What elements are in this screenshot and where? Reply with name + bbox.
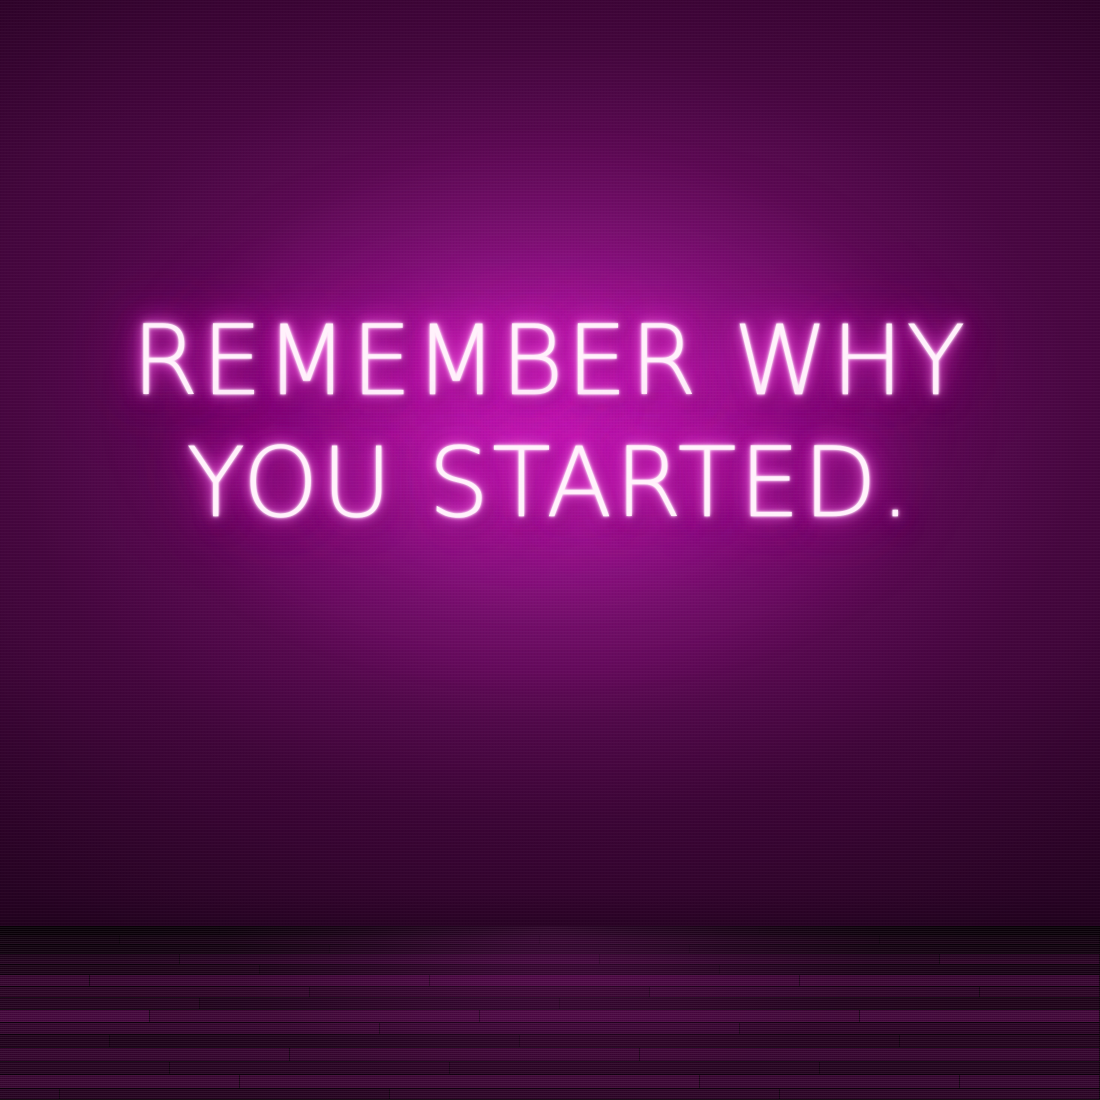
floor-plank [380, 1023, 740, 1034]
floor-plank [560, 998, 1100, 1009]
floor-plank [450, 1062, 820, 1074]
floor-plank [820, 1062, 1100, 1074]
floor-plank-row [0, 1062, 1100, 1075]
floor-plank [640, 1048, 1100, 1061]
floor-plank [260, 965, 720, 974]
neon-line-2: YOU STARTED. [0, 422, 1100, 544]
floor-plank [170, 1062, 450, 1074]
floor-plank [480, 1010, 860, 1022]
floor-plank [0, 1010, 150, 1022]
wood-floor [0, 926, 1100, 1100]
floor-plank [0, 998, 200, 1009]
floor-plank [0, 1075, 240, 1088]
floor-plank [0, 1062, 170, 1074]
floor-plank [720, 965, 1100, 974]
floor-plank [290, 1048, 640, 1061]
floor-plank [0, 1035, 110, 1047]
floor-plank-row [0, 1023, 1100, 1035]
floor-plank [0, 965, 260, 974]
floor-plank-row [0, 975, 1100, 987]
floor-plank [90, 975, 430, 986]
floor-plank [0, 1023, 380, 1034]
floor-plank [150, 1010, 480, 1022]
floor-plank [0, 975, 90, 986]
floor-plank-row [0, 1035, 1100, 1048]
floor-plank [780, 1089, 1100, 1099]
floor-plank-row [0, 1075, 1100, 1089]
floor-plank [520, 1035, 900, 1047]
floor-plank [430, 975, 800, 986]
floor-plank [390, 1089, 780, 1099]
neon-line-1: REMEMBER WHY [0, 300, 1100, 422]
neon-sign-text: REMEMBER WHY YOU STARTED. [0, 300, 1100, 544]
floor-plank [700, 1075, 960, 1088]
floor-plank-row [0, 965, 1100, 975]
floor-plank [900, 1035, 1100, 1047]
floor-plank [0, 1089, 60, 1099]
neon-sign-scene: REMEMBER WHY YOU STARTED. [0, 0, 1100, 1100]
floor-plank [110, 1035, 520, 1047]
floor-plank [60, 1089, 390, 1099]
floor-plank [960, 1075, 1100, 1088]
floor-plank-row [0, 1048, 1100, 1062]
floor-plank [200, 998, 560, 1009]
wall-floor-junction-shadow [0, 926, 1100, 966]
floor-plank [240, 1075, 700, 1088]
floor-plank [860, 1010, 1100, 1022]
floor-plank [740, 1023, 1100, 1034]
floor-plank-row [0, 1089, 1100, 1100]
floor-plank [980, 987, 1100, 997]
floor-plank [0, 1048, 290, 1061]
floor-plank [800, 975, 1100, 986]
floor-plank [0, 987, 310, 997]
floor-plank [650, 987, 980, 997]
floor-plank-row [0, 987, 1100, 998]
floor-plank [310, 987, 650, 997]
floor-plank-row [0, 1010, 1100, 1023]
floor-plank-row [0, 998, 1100, 1010]
